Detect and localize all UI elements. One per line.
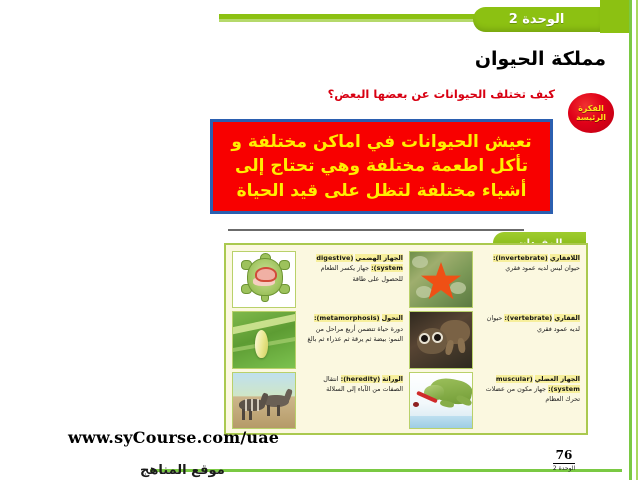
vocabulary-entry: الجهاز العضلي (muscular system): جهاز مك…: [409, 372, 580, 429]
zebras-photo: [232, 372, 296, 429]
loris-photo: [409, 311, 473, 368]
vocabulary-term-ar: الجهاز الهضمي: [355, 254, 403, 262]
vocabulary-entry: الفقاري (vertebrate): حيوان لديه عمود فق…: [409, 311, 580, 368]
main-idea-question: كيف تختلف الحيوانات عن بعضها البعض؟: [195, 87, 555, 101]
vocabulary-entry-text: الجهاز العضلي (muscular system): جهاز مك…: [478, 372, 580, 405]
vocabulary-entry-text: الوراثة (heredity): انتقال الصفات من الآ…: [301, 372, 403, 395]
vocabulary-term-ar: الوراثة: [382, 375, 403, 383]
vocabulary-column-left: الجهاز الهضمي (digestive system): جهاز ي…: [232, 251, 403, 429]
main-idea-badge: الفكرة الرئيسة: [568, 93, 614, 133]
vocabulary-entry: الوراثة (heredity): انتقال الصفات من الآ…: [232, 372, 403, 429]
starfish-photo: [409, 251, 473, 308]
vocabulary-entry: الجهاز الهضمي (digestive system): جهاز ي…: [232, 251, 403, 308]
page-number: 76: [553, 449, 576, 464]
chrysalis-on-leaf-photo: [232, 311, 296, 368]
vocabulary-entry: التحول (metamorphosis): دورة حياة تتضمن …: [232, 311, 403, 368]
vocabulary-term-ar: اللافقاري: [550, 254, 580, 262]
page-unit-label: الوحدة 2: [534, 465, 594, 472]
vocabulary-term-en: (invertebrate):: [493, 254, 548, 262]
unit-tab: الوحدة 2: [473, 7, 600, 32]
vocabulary-term-en: (heredity):: [341, 375, 381, 383]
vocabulary-term-en: (vertebrate):: [504, 314, 552, 322]
vocabulary-entry: اللافقاري (invertebrate): حيوان ليس لديه…: [409, 251, 580, 308]
main-idea-badge-line1: الفكرة: [578, 104, 604, 113]
page-number-block: 76 الوحدة 2: [534, 444, 594, 472]
vocabulary-entry-text: التحول (metamorphosis): دورة حياة تتضمن …: [301, 311, 403, 344]
right-green-rule: [629, 0, 632, 480]
vocabulary-top-rule: [228, 229, 524, 231]
vocabulary-definition: حيوان ليس لديه عمود فقري: [505, 264, 580, 272]
vocabulary-column-right: اللافقاري (invertebrate): حيوان ليس لديه…: [409, 251, 580, 429]
page-title: مملكة الحيوان: [206, 48, 606, 70]
vocabulary-term-ar: الفقاري: [554, 314, 580, 322]
vocabulary-term-en: (metamorphosis):: [314, 314, 380, 322]
site-url: www.syCourse.com/uae: [68, 428, 279, 447]
top-right-green-block: [600, 0, 629, 33]
site-name-arabic: موقع المناهج: [140, 463, 225, 478]
vocabulary-entry-text: اللافقاري (invertebrate): حيوان ليس لديه…: [478, 251, 580, 274]
vocabulary-panel: اللافقاري (invertebrate): حيوان ليس لديه…: [224, 243, 588, 435]
vocabulary-entry-text: الجهاز الهضمي (digestive system): جهاز ي…: [301, 251, 403, 284]
main-idea-statement-text: تعيش الحيوانات في اماكن مختلفة و تأكل اط…: [223, 130, 540, 202]
turtle-digestive-diagram: [232, 251, 296, 308]
vocabulary-term-ar: الجهاز العضلي: [535, 375, 580, 383]
textbook-page: الوحدة 2 مملكة الحيوان كيف تختلف الحيوان…: [0, 0, 640, 480]
right-green-rule-thin: [636, 0, 638, 480]
vocabulary-term-ar: التحول: [382, 314, 403, 322]
vocabulary-definition: دورة حياة تتضمن أربع مراحل من النمو: بيض…: [307, 325, 403, 343]
vocabulary-entry-text: الفقاري (vertebrate): حيوان لديه عمود فق…: [478, 311, 580, 334]
main-idea-statement-box: تعيش الحيوانات في اماكن مختلفة و تأكل اط…: [210, 119, 553, 214]
main-idea-badge-line2: الرئيسة: [576, 113, 606, 122]
unit-tab-label: الوحدة 2: [509, 12, 565, 27]
frog-tongue-photo: [409, 372, 473, 429]
